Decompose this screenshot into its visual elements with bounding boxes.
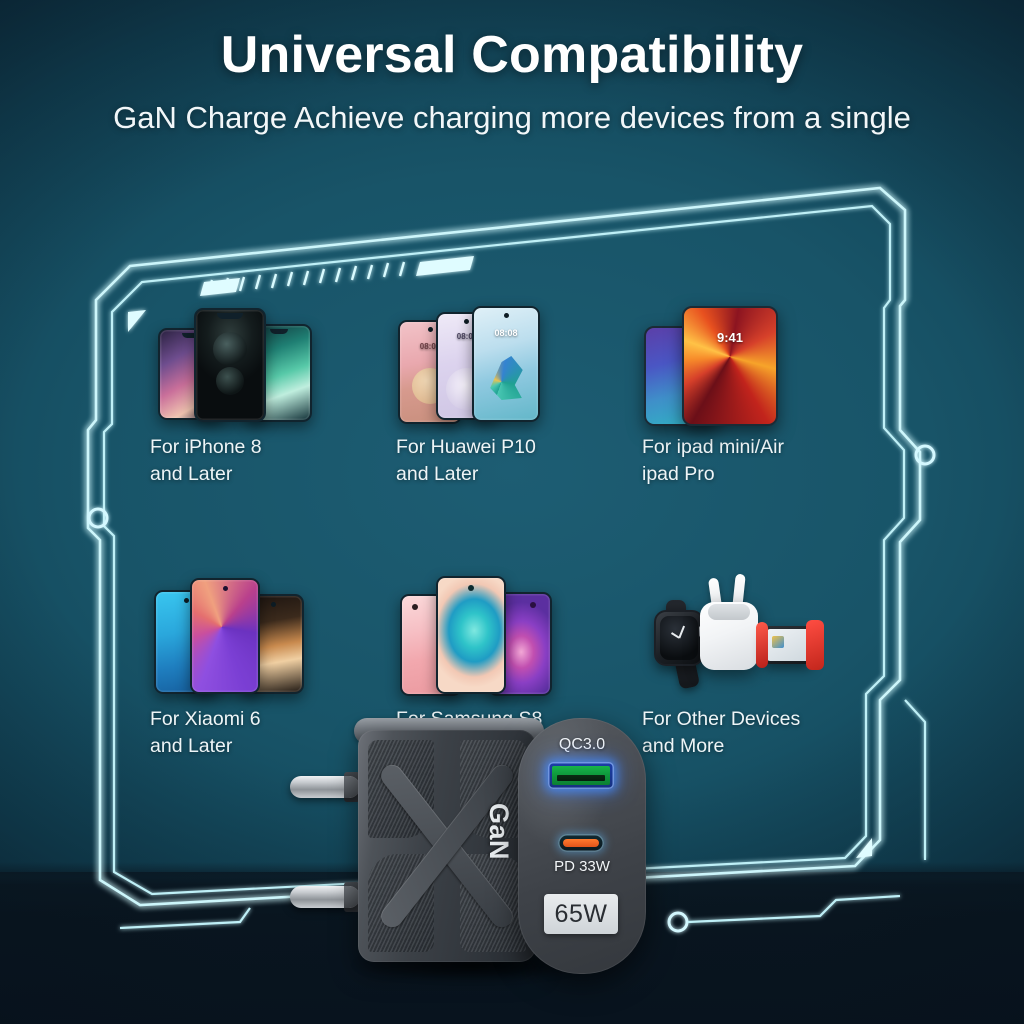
usb-a-tongue: [557, 775, 605, 781]
hud-right-tail: [905, 700, 925, 860]
game-console-icon: [764, 626, 812, 664]
device-card-ipad: 9:41 For ipad mini/Air ipad Pro: [642, 300, 888, 488]
device-caption-huawei: For Huawei P10 and Later: [396, 434, 642, 488]
earbuds-case-icon: [700, 602, 758, 670]
usb-c-port[interactable]: [558, 834, 604, 852]
xiaomi-trio-icon: [150, 572, 396, 694]
caption-line-2: and Later: [150, 461, 396, 488]
power-badge: 65W: [544, 894, 618, 934]
charger-body: GaN: [358, 730, 536, 962]
ipad-clock: 9:41: [684, 330, 776, 345]
usb-c-label: PD 33W: [518, 858, 646, 875]
charger-port-face: QC3.0 PD 33W 65W: [518, 718, 646, 974]
product-marketing-image: Universal Compatibility GaN Charge Achie…: [0, 0, 1024, 1024]
eu-prong-top: [290, 776, 360, 798]
eu-prong-bottom: [290, 886, 360, 908]
usb-a-port[interactable]: [548, 762, 614, 789]
device-caption-ipad: For ipad mini/Air ipad Pro: [642, 434, 888, 488]
ipad-pair-icon: 9:41: [642, 300, 888, 422]
grid-row-1: For iPhone 8 and Later 08:08 08:08: [150, 300, 890, 488]
hud-top-ticks: [200, 256, 474, 296]
usb-a-label: QC3.0: [518, 736, 646, 754]
caption-line-2: and More: [642, 733, 888, 760]
huawei-trio-icon: 08:08 08:08 08:08: [396, 300, 642, 422]
device-caption-iphone: For iPhone 8 and Later: [150, 434, 396, 488]
joycon-right-icon: [806, 620, 824, 670]
device-card-huawei: 08:08 08:08 08:08 For Huawei: [396, 300, 642, 488]
device-card-other: For Other Devices and More: [642, 572, 888, 760]
device-caption-other: For Other Devices and More: [642, 706, 888, 760]
gan-brand-text: GaN: [483, 803, 514, 860]
usb-a-inner: [552, 766, 610, 785]
page-title: Universal Compatibility: [0, 28, 1024, 83]
joycon-left-icon: [756, 622, 768, 668]
caption-line-1: For Other Devices: [642, 706, 888, 733]
usb-c-inner: [563, 839, 599, 847]
caption-line-1: For ipad mini/Air: [642, 434, 888, 461]
samsung-trio-icon: [396, 572, 642, 694]
caption-line-1: For iPhone 8: [150, 434, 396, 461]
caption-line-1: For Huawei P10: [396, 434, 642, 461]
watch-earbuds-console-icon: [642, 572, 888, 694]
iphone-trio-icon: [150, 300, 396, 422]
compatibility-grid: For iPhone 8 and Later 08:08 08:08: [150, 300, 890, 760]
caption-line-2: ipad Pro: [642, 461, 888, 488]
huawei-clock-3: 08:08: [474, 328, 538, 338]
caption-line-2: and Later: [396, 461, 642, 488]
page-subtitle: GaN Charge Achieve charging more devices…: [0, 101, 1024, 135]
header: Universal Compatibility GaN Charge Achie…: [0, 28, 1024, 135]
smartwatch-icon: [654, 610, 704, 666]
device-card-iphone: For iPhone 8 and Later: [150, 300, 396, 488]
gan-charger-product: GaN QC3.0 PD 33W 65W: [296, 706, 656, 1006]
